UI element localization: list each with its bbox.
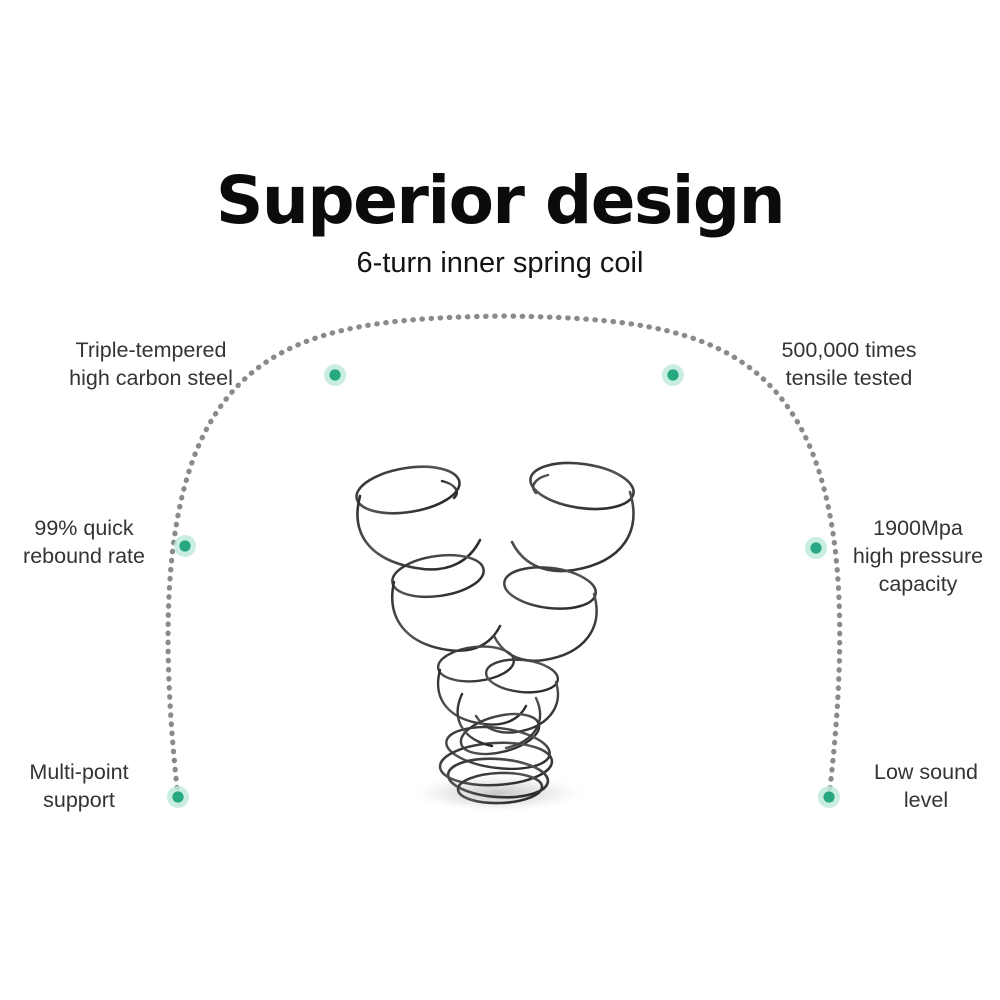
marker-top-right xyxy=(662,364,684,386)
feature-label-high-pressure-capacity: 1900Mpa high pressure capacity xyxy=(836,514,1000,598)
infographic-canvas: Superior design 6-turn inner spring coil xyxy=(0,0,1000,1000)
feature-line: 99% quick xyxy=(0,514,168,542)
marker-top-left xyxy=(324,364,346,386)
spring-shadow xyxy=(406,773,590,813)
feature-label-low-sound-level: Low sound level xyxy=(852,758,1000,814)
marker-bottom-right xyxy=(818,786,840,808)
feature-line: high pressure xyxy=(836,542,1000,570)
feature-label-rebound-rate: 99% quick rebound rate xyxy=(0,514,168,570)
feature-line: 1900Mpa xyxy=(836,514,1000,542)
feature-line: Multi-point xyxy=(0,758,158,786)
feature-line: Triple-tempered xyxy=(0,336,302,364)
feature-line: level xyxy=(852,786,1000,814)
feature-label-tensile-tested: 500,000 times tensile tested xyxy=(698,336,1000,392)
feature-line: 500,000 times xyxy=(698,336,1000,364)
feature-line: rebound rate xyxy=(0,542,168,570)
spring-wire-group xyxy=(353,457,636,804)
spring-coil-illustration xyxy=(330,448,670,818)
feature-line: high carbon steel xyxy=(0,364,302,392)
feature-label-multi-point-support: Multi-point support xyxy=(0,758,158,814)
marker-mid-right xyxy=(805,537,827,559)
feature-label-triple-tempered: Triple-tempered high carbon steel xyxy=(0,336,302,392)
feature-line: tensile tested xyxy=(698,364,1000,392)
marker-bottom-left xyxy=(167,786,189,808)
feature-line: capacity xyxy=(836,570,1000,598)
feature-line: support xyxy=(0,786,158,814)
marker-mid-left xyxy=(174,535,196,557)
feature-line: Low sound xyxy=(852,758,1000,786)
